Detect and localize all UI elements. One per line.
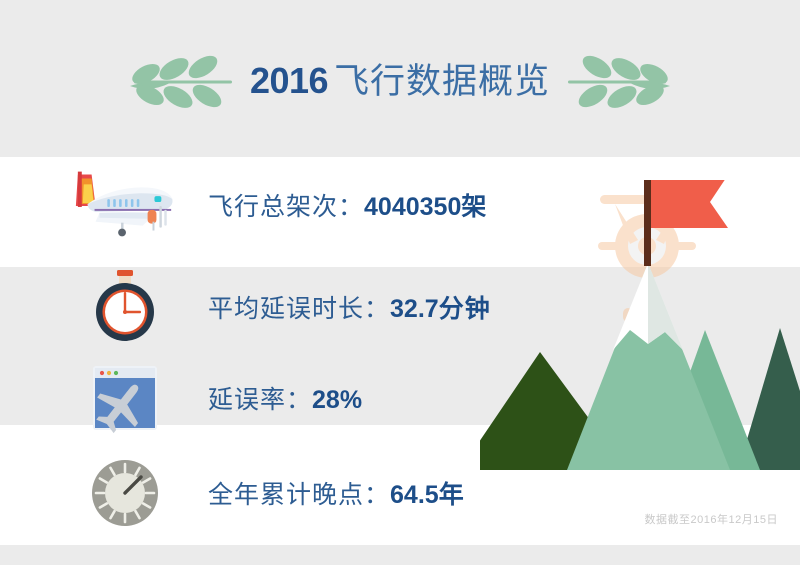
stat-value: 32.7 (390, 295, 439, 323)
leaf-branch-icon (124, 48, 236, 114)
airplane-propeller-icon (70, 166, 180, 244)
stat-row: 平均延误时长：32.7分钟 (70, 262, 491, 352)
stat-row: 飞行总架次：4040350架 (70, 160, 487, 250)
gauge-dial-icon (70, 456, 180, 530)
browser-window-airplane-icon (70, 362, 180, 434)
stat-unit: 架 (461, 193, 487, 221)
stat-label: 平均延误时长： (208, 295, 390, 323)
page-header: 2016飞行数据概览 (0, 46, 800, 116)
stat-row: 全年累计晚点：64.5年 (70, 448, 465, 538)
stat-label: 延误率： (208, 386, 312, 414)
stat-label: 飞行总架次： (208, 193, 364, 221)
stat-text: 平均延误时长：32.7分钟 (208, 289, 491, 325)
stat-text: 延误率：28% (208, 380, 362, 416)
footer-note: 数据截至2016年12月15日 (645, 511, 778, 527)
infographic-poster: 2016飞行数据概览 (0, 0, 800, 565)
stat-unit: 年 (439, 481, 465, 509)
stat-text: 飞行总架次：4040350架 (208, 187, 487, 223)
title-year: 2016 (250, 60, 328, 101)
stat-unit: 分钟 (439, 295, 491, 323)
leaf-branch-icon (564, 48, 676, 114)
stat-value: 28% (312, 386, 362, 414)
stat-value: 4040350 (364, 193, 461, 221)
stat-text: 全年累计晚点：64.5年 (208, 475, 465, 511)
page-title: 2016飞行数据概览 (250, 63, 550, 99)
flag-icon (644, 180, 728, 266)
stat-row: 延误率：28% (70, 353, 362, 443)
stopwatch-icon (70, 270, 180, 344)
background-band-bottom (0, 545, 800, 565)
title-main: 飞行数据概览 (334, 62, 550, 101)
stat-label: 全年累计晚点： (208, 481, 390, 509)
stat-value: 64.5 (390, 481, 439, 509)
